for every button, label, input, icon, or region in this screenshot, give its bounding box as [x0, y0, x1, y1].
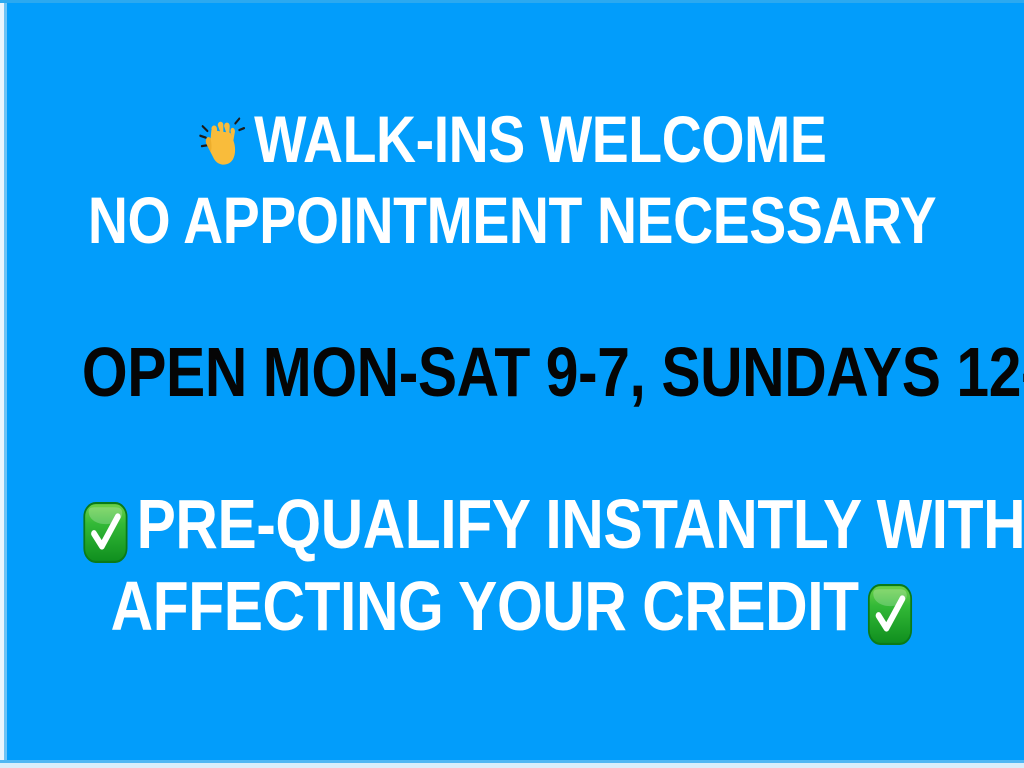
sign-line-affecting-credit-text: AFFECTING YOUR CREDIT [111, 567, 859, 645]
waving-hand-icon [198, 112, 249, 173]
sign-line-no-appointment: NO APPOINTMENT NECESSARY [82, 187, 942, 253]
promotional-sign: WALK-INS WELCOME NO APPOINTMENT NECESSAR… [0, 0, 1024, 768]
sign-line-walk-ins-text: WALK-INS WELCOME [254, 102, 826, 176]
sign-line-affecting-credit: AFFECTING YOUR CREDIT [82, 571, 942, 643]
sign-line-pre-qualify: PRE-QUALIFY INSTANTLY WITHOUT [82, 489, 942, 561]
sign-content: WALK-INS WELCOME NO APPOINTMENT NECESSAR… [0, 0, 1024, 768]
sign-line-hours: OPEN MON-SAT 9-7, SUNDAYS 12-5 [82, 337, 942, 407]
sign-line-hours-text: OPEN MON-SAT 9-7, SUNDAYS 12-5 [82, 333, 1024, 411]
check-mark-button-icon-trailing [866, 583, 913, 646]
check-mark-button-icon [82, 501, 129, 564]
sign-line-no-appointment-text: NO APPOINTMENT NECESSARY [88, 183, 936, 257]
sign-line-walk-ins: WALK-INS WELCOME [82, 106, 942, 175]
sign-line-pre-qualify-text: PRE-QUALIFY INSTANTLY WITHOUT [137, 485, 1024, 563]
